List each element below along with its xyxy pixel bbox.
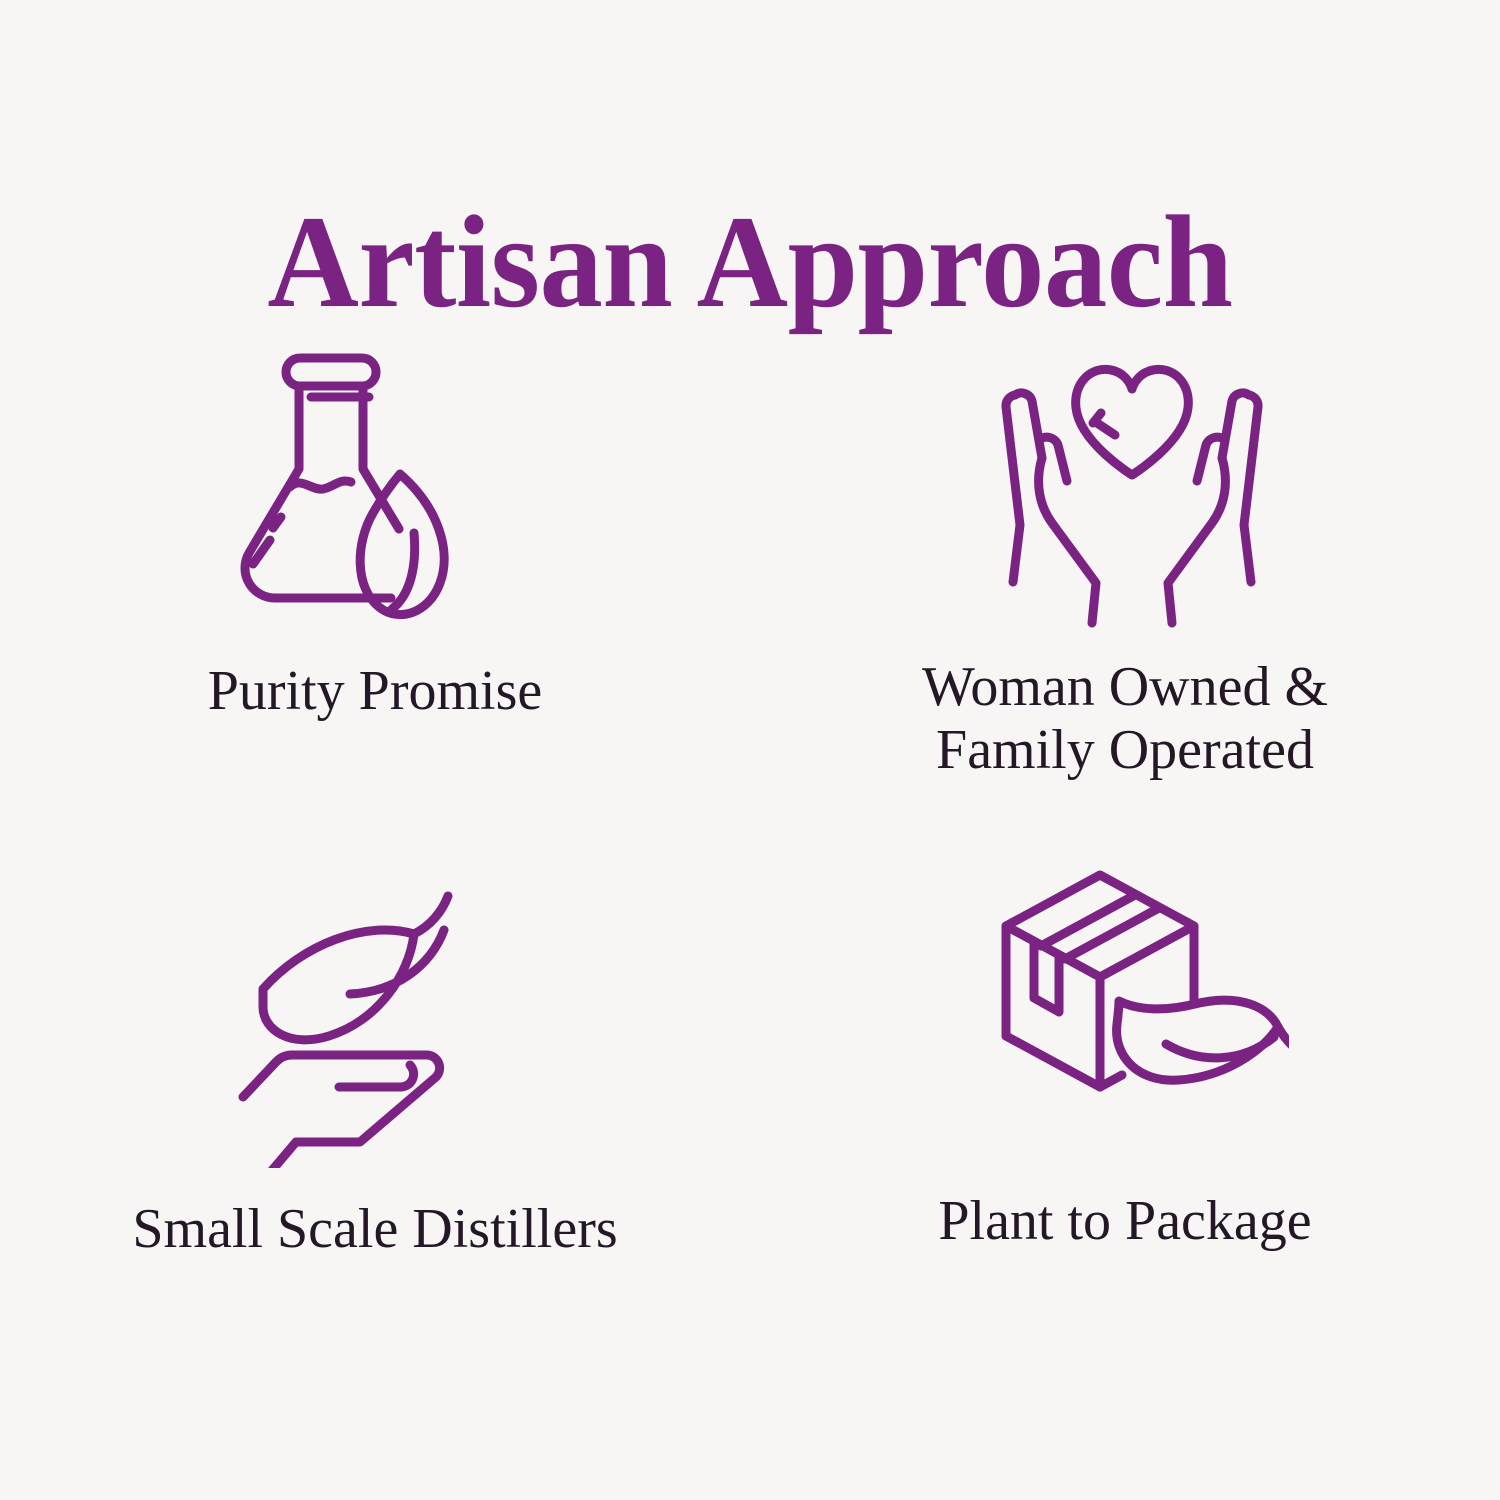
hands-heart-icon: [982, 340, 1282, 640]
feature-item-purity-promise: Purity Promise: [0, 340, 750, 860]
feature-item-plant-to-package: Plant to Package: [750, 860, 1500, 1380]
leaf-in-hand-icon: [226, 868, 526, 1168]
flask-leaf-icon: [228, 340, 528, 640]
feature-item-woman-owned: Woman Owned & Family Operated: [750, 340, 1500, 860]
page-title: Artisan Approach: [30, 196, 1470, 328]
feature-label: Purity Promise: [208, 660, 542, 723]
feature-label: Plant to Package: [938, 1190, 1311, 1253]
artisan-approach-panel: Artisan Approach: [0, 0, 1500, 1500]
feature-item-small-scale-distillers: Small Scale Distillers: [0, 860, 750, 1380]
feature-label: Woman Owned & Family Operated: [922, 656, 1328, 781]
feature-grid: Purity Promise: [0, 340, 1500, 1380]
feature-label: Small Scale Distillers: [132, 1198, 617, 1261]
box-leaf-icon: [989, 864, 1289, 1164]
